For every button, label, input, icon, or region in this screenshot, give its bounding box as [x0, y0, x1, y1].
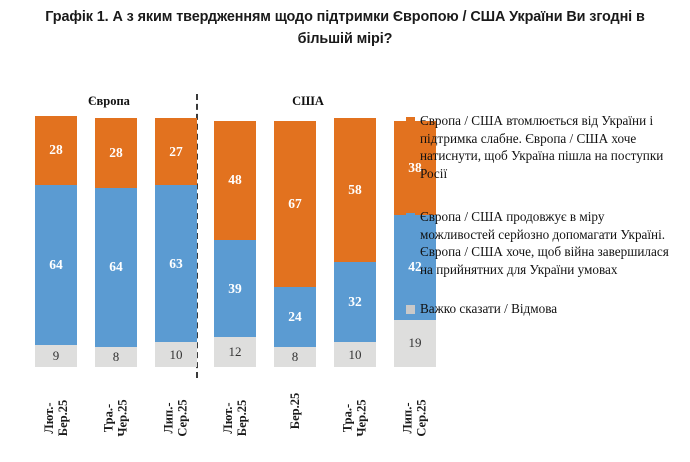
x-axis-tick-label: Лют.-Бер.25	[35, 370, 77, 460]
x-axis-tick-text: Тра.-Чер.25	[102, 399, 130, 436]
stacked-bar[interactable]: 583210	[334, 118, 376, 367]
x-axis-tick-label: Лип.-Сер.25	[394, 370, 436, 460]
bar-segment-orange[interactable]: 28	[95, 118, 137, 188]
stacked-bar[interactable]: 483912	[214, 121, 256, 368]
bar-segment-blue[interactable]: 64	[35, 185, 77, 344]
x-axis-tick-text: Лют.-Бер.25	[42, 400, 70, 436]
legend-label: Європа / США продовжує в міру можливосте…	[420, 208, 682, 278]
bar-value-label: 63	[169, 256, 183, 272]
bar-value-label: 10	[349, 347, 362, 363]
bar-value-label: 58	[348, 182, 362, 198]
bar-value-label: 19	[409, 335, 422, 351]
x-axis-tick-text: Тра.-Чер.25	[341, 399, 369, 436]
legend-item[interactable]: Важко сказати / Відмова	[406, 300, 682, 318]
x-axis-tick-text: Бер.25	[288, 393, 302, 429]
bar-value-label: 10	[170, 347, 183, 363]
bar-segment-gray[interactable]: 9	[35, 345, 77, 367]
bar-segment-orange[interactable]: 27	[155, 118, 197, 185]
bar-value-label: 8	[113, 349, 120, 365]
bar-value-label: 27	[169, 144, 183, 160]
bar-value-label: 9	[53, 348, 60, 364]
bar-segment-gray[interactable]: 10	[334, 342, 376, 367]
bar-value-label: 28	[49, 142, 63, 158]
bar-segment-orange[interactable]: 48	[214, 121, 256, 241]
bar-segment-orange[interactable]: 28	[35, 116, 77, 186]
stacked-bar[interactable]: 28649	[35, 116, 77, 367]
stacked-bar[interactable]: 28648	[95, 118, 137, 367]
x-axis-tick-text: Лют.-Бер.25	[221, 400, 249, 436]
legend-item[interactable]: Європа / США продовжує в міру можливосте…	[406, 208, 682, 278]
bar-value-label: 48	[228, 172, 242, 188]
x-axis-tick-label: Лип.-Сер.25	[155, 370, 197, 460]
legend-swatch-orange-icon	[406, 117, 415, 126]
legend-label: Важко сказати / Відмова	[420, 300, 557, 318]
bar-value-label: 8	[292, 349, 299, 365]
x-axis-tick-text: Лип.-Сер.25	[401, 399, 429, 436]
bar-segment-blue[interactable]: 63	[155, 185, 197, 342]
bar-segment-blue[interactable]: 64	[95, 188, 137, 347]
bar-segment-gray[interactable]: 8	[95, 347, 137, 367]
bar-segment-gray[interactable]: 8	[274, 347, 316, 367]
legend-label: Європа / США втомлюється від України і п…	[420, 112, 682, 182]
plot-area: Європа США 28649286482763104839126724858…	[0, 80, 400, 380]
stacked-bar[interactable]: 276310	[155, 118, 197, 367]
legend-swatch-blue-icon	[406, 213, 415, 222]
x-axis-tick-label: Тра.-Чер.25	[334, 370, 376, 460]
x-axis-tick-label: Лют.-Бер.25	[214, 370, 256, 460]
bar-value-label: 64	[109, 259, 123, 275]
bar-value-label: 28	[109, 145, 123, 161]
bar-segment-orange[interactable]: 58	[334, 118, 376, 262]
bar-segment-orange[interactable]: 67	[274, 121, 316, 288]
bar-value-label: 12	[229, 344, 242, 360]
stacked-bar[interactable]: 67248	[274, 121, 316, 367]
chart-legend: Європа / США втомлюється від України і п…	[406, 112, 682, 332]
bar-segment-blue[interactable]: 32	[334, 262, 376, 342]
bar-value-label: 24	[288, 309, 302, 325]
group-header-europe: Європа	[35, 94, 183, 109]
group-header-usa: США	[210, 94, 406, 109]
x-axis-tick-label: Тра.-Чер.25	[95, 370, 137, 460]
legend-item[interactable]: Європа / США втомлюється від України і п…	[406, 112, 682, 182]
bar-value-label: 67	[288, 196, 302, 212]
bar-segment-gray[interactable]: 12	[214, 337, 256, 367]
bar-segment-blue[interactable]: 39	[214, 240, 256, 337]
x-axis-tick-text: Лип.-Сер.25	[162, 399, 190, 436]
bar-value-label: 64	[49, 257, 63, 273]
page-title: Графік 1. А з яким твердженням щодо підт…	[28, 6, 662, 50]
bar-segment-blue[interactable]: 24	[274, 287, 316, 347]
x-axis-tick-label: Бер.25	[274, 370, 316, 460]
legend-swatch-gray-icon	[406, 305, 415, 314]
bar-value-label: 32	[348, 294, 362, 310]
chart-page: Графік 1. А з яким твердженням щодо підт…	[0, 0, 690, 462]
bar-value-label: 39	[228, 281, 242, 297]
bar-segment-gray[interactable]: 10	[155, 342, 197, 367]
